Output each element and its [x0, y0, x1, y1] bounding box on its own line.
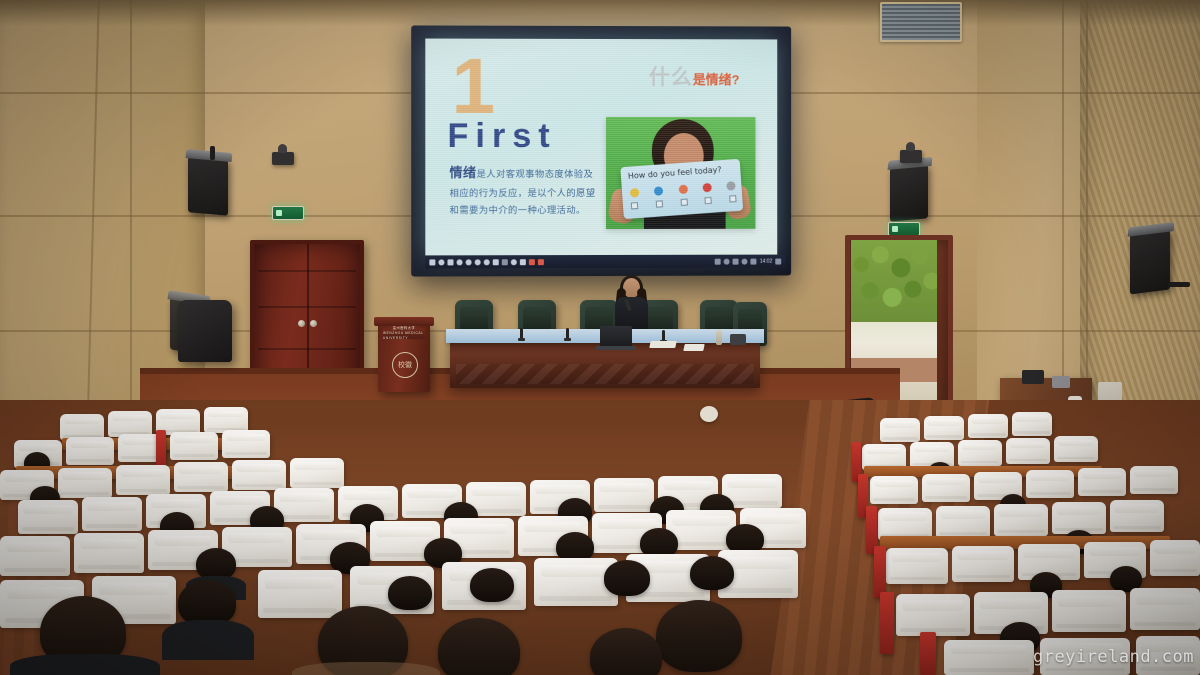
seat[interactable]: [886, 548, 948, 584]
windows-taskbar[interactable]: 14:02: [425, 255, 785, 269]
mood-face-row: [630, 181, 736, 197]
university-emblem-icon: 校徽: [392, 352, 418, 378]
slide-section-word: First: [447, 117, 556, 156]
folder-icon[interactable]: [466, 259, 472, 265]
seat[interactable]: [1130, 588, 1200, 630]
seat[interactable]: [82, 497, 142, 531]
seat[interactable]: [1078, 468, 1126, 496]
seat-end-panel: [880, 592, 894, 654]
seat[interactable]: [1052, 590, 1126, 632]
seat[interactable]: [922, 474, 970, 502]
seat[interactable]: [1026, 470, 1074, 498]
camera-right: [900, 150, 922, 163]
seat[interactable]: [968, 414, 1008, 438]
notifications-icon[interactable]: [775, 258, 781, 264]
network-icon[interactable]: [733, 258, 739, 264]
slide-body-text: 情绪是人对客观事物态度体验及相应的行为反应，是以个人的愿望和需要为中介的一种心理…: [449, 161, 600, 220]
seat[interactable]: [924, 416, 964, 440]
equipment-box: [1052, 376, 1070, 388]
wall-seam: [1062, 0, 1064, 430]
podium-name-plate: 温州医科大学 WENZHOU MEDICAL UNIVERSITY: [383, 328, 425, 339]
ceiling-shadow: [0, 0, 1200, 26]
taskbar-tray[interactable]: 14:02: [715, 258, 781, 264]
mood-card-caption: How do you feel today?: [628, 165, 722, 181]
seat[interactable]: [1006, 438, 1050, 464]
mood-checkbox-row[interactable]: [631, 195, 737, 209]
table-microphone[interactable]: [566, 328, 569, 340]
seat[interactable]: [952, 546, 1014, 582]
cloud-icon[interactable]: [724, 258, 730, 264]
seat[interactable]: [66, 437, 114, 465]
podium-top: [374, 317, 434, 326]
wall-speaker-far-right: [1130, 230, 1170, 295]
seat[interactable]: [290, 458, 344, 488]
seat[interactable]: [1012, 412, 1052, 436]
watermark: greyireland.com: [1033, 647, 1194, 667]
mood-checkbox[interactable]: [655, 200, 662, 207]
seat[interactable]: [232, 460, 286, 490]
seat[interactable]: [936, 506, 990, 538]
mood-checkbox[interactable]: [631, 202, 638, 209]
audience-shoulders: [292, 662, 440, 675]
audience-head: [604, 560, 650, 596]
office-icon[interactable]: [520, 259, 526, 265]
chat-icon[interactable]: [493, 259, 499, 265]
wall-seam: [1086, 0, 1088, 420]
seat[interactable]: [0, 536, 70, 576]
audience-head: [388, 576, 432, 610]
seat[interactable]: [1054, 436, 1098, 462]
seat[interactable]: [18, 500, 78, 534]
mail-icon[interactable]: [475, 259, 481, 265]
seat[interactable]: [1150, 540, 1200, 576]
mood-checkbox[interactable]: [680, 199, 687, 206]
audience-head: [470, 568, 514, 602]
mood-face-sad-icon: [726, 181, 736, 191]
volume-icon[interactable]: [742, 258, 748, 264]
seat[interactable]: [870, 476, 918, 504]
slide-body-lead: 情绪: [449, 165, 476, 180]
audience-head: [690, 556, 734, 590]
mood-checkbox[interactable]: [705, 197, 712, 204]
podium-plate-line2: WENZHOU MEDICAL UNIVERSITY: [383, 331, 425, 341]
seat[interactable]: [944, 640, 1034, 675]
taskbar-left-icons[interactable]: [429, 259, 544, 265]
seat-end-panel: [920, 632, 936, 675]
speaker-mount: [1168, 282, 1190, 287]
mood-face-angry-icon: [702, 183, 712, 193]
seat[interactable]: [880, 418, 920, 442]
mood-checkbox[interactable]: [729, 195, 736, 202]
seat[interactable]: [74, 533, 144, 573]
start-icon[interactable]: [429, 259, 435, 265]
mood-face-surprised-icon: [678, 185, 688, 195]
hvac-vent: [880, 2, 962, 42]
water-bottle[interactable]: [716, 330, 722, 345]
slide-heading-orange: 是情绪?: [693, 72, 740, 87]
documents[interactable]: [683, 344, 704, 351]
search-icon[interactable]: [438, 259, 444, 265]
outdoor-foliage: [851, 240, 937, 322]
wall-speaker-right: [890, 164, 928, 221]
wall-speaker-left: [188, 156, 228, 215]
speaker-mount: [210, 146, 215, 160]
seat[interactable]: [594, 478, 654, 512]
door-handle[interactable]: [310, 320, 317, 327]
media-icon[interactable]: [511, 259, 517, 265]
store-icon[interactable]: [484, 259, 490, 265]
equipment-case: [1022, 370, 1044, 384]
mood-card: How do you feel today?: [620, 159, 743, 219]
seat[interactable]: [1130, 466, 1178, 494]
documents[interactable]: [649, 341, 676, 348]
projection-screen[interactable]: 1 First 什么是情绪? 情绪是人对客观事物态度体验及相应的行为反应，是以个…: [411, 25, 791, 276]
seat[interactable]: [994, 504, 1048, 536]
office-chair[interactable]: [178, 300, 232, 362]
seat[interactable]: [258, 570, 342, 618]
table-microphone[interactable]: [520, 328, 523, 340]
photo-icon[interactable]: [538, 259, 544, 265]
slide-heading: 什么是情绪?: [649, 61, 740, 91]
seat[interactable]: [58, 468, 112, 498]
mood-face-happy-icon: [630, 188, 640, 198]
task-view-icon[interactable]: [447, 259, 453, 265]
exit-sign-right: [888, 222, 920, 236]
presentation-slide: 1 First 什么是情绪? 情绪是人对客观事物态度体验及相应的行为反应，是以个…: [425, 39, 777, 256]
lecture-hall-photo: 1 First 什么是情绪? 情绪是人对客观事物态度体验及相应的行为反应，是以个…: [0, 0, 1200, 675]
tools-icon[interactable]: [502, 259, 508, 265]
slide-heading-gray: 什么: [649, 66, 693, 89]
slide-section-number: 1: [452, 47, 494, 125]
projector-remote[interactable]: [730, 334, 746, 345]
seat[interactable]: [958, 440, 1002, 466]
speaker-podium[interactable]: 温州医科大学 WENZHOU MEDICAL UNIVERSITY 校徽: [378, 322, 430, 392]
seat[interactable]: [174, 462, 228, 492]
seat[interactable]: [222, 430, 270, 458]
audience-head-front: [656, 600, 742, 672]
audience-head-front: [438, 618, 520, 675]
exit-sign-left: [272, 206, 304, 220]
slide-photo: How do you feel today?: [606, 117, 755, 229]
audience-shoulders: [10, 654, 160, 675]
camera-left: [272, 152, 294, 165]
seat[interactable]: [170, 432, 218, 460]
ppt-icon[interactable]: [529, 259, 535, 265]
seat[interactable]: [1110, 500, 1164, 532]
table-front-panel: [456, 364, 754, 384]
seat-end-panel: [874, 546, 886, 598]
water-bottle-floor: [700, 406, 718, 422]
seat[interactable]: [896, 594, 970, 636]
mood-face-calm-icon: [654, 186, 664, 196]
edge-icon[interactable]: [457, 259, 463, 265]
battery-icon[interactable]: [751, 258, 757, 264]
pen-icon[interactable]: [715, 258, 721, 264]
seat[interactable]: [116, 465, 170, 495]
door-handle[interactable]: [298, 320, 305, 327]
laptop[interactable]: [600, 326, 632, 348]
taskbar-clock: 14:02: [760, 258, 772, 264]
audience-shoulders: [162, 620, 254, 660]
